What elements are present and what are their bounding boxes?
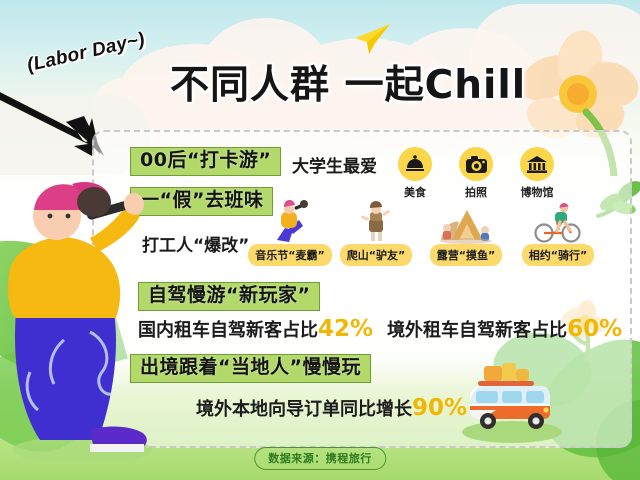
stat-text: 境外租车自驾新客占比 bbox=[387, 320, 567, 341]
persona-label: 音乐节“麦霸” bbox=[248, 244, 331, 266]
cyclist-figure-icon bbox=[533, 200, 583, 244]
stat-text: 境外本地向导订单同比增长 bbox=[196, 399, 412, 420]
persona-label: 露营“摸鱼” bbox=[430, 244, 502, 266]
data-source-label: 数据来源：携程旅行 bbox=[254, 447, 386, 470]
persona-hiker: 爬山“驴友” bbox=[330, 200, 422, 266]
stat-text: 国内租车自驾新客占比 bbox=[138, 320, 318, 341]
section-badge-selfdrive: 自驾慢游“新玩家” bbox=[138, 282, 320, 311]
stat-value: 42% bbox=[318, 316, 373, 342]
icon-item-photo: 拍照 bbox=[455, 147, 497, 200]
singer-illustration bbox=[0, 172, 160, 462]
paper-plane-icon bbox=[352, 22, 392, 56]
persona-camper: 露营“摸鱼” bbox=[420, 200, 512, 266]
section-note-students: 大学生最爱 bbox=[292, 152, 377, 177]
camper-figure-icon bbox=[437, 200, 495, 244]
persona-row: 音乐节“麦霸” 爬山“驴友” bbox=[244, 200, 624, 272]
hiker-figure-icon bbox=[358, 200, 394, 244]
singer-figure-icon bbox=[267, 200, 313, 244]
food-icon bbox=[398, 147, 432, 181]
persona-cyclist: 相约“骑行” bbox=[512, 200, 604, 266]
persona-label: 爬山“驴友” bbox=[340, 244, 412, 266]
persona-label: 相约“骑行” bbox=[522, 244, 594, 266]
icon-label: 美食 bbox=[394, 184, 436, 200]
camper-van-illustration bbox=[452, 360, 572, 444]
stat-row-outbound: 境外本地向导订单同比增长90% bbox=[196, 395, 467, 421]
section-badge-outbound: 出境跟着“当地人”慢慢玩 bbox=[130, 354, 371, 383]
stat-row-selfdrive: 国内租车自驾新客占比42%境外租车自驾新客占比60% bbox=[138, 316, 622, 342]
icon-label: 博物馆 bbox=[516, 184, 558, 200]
icon-label: 拍照 bbox=[455, 184, 497, 200]
museum-icon bbox=[520, 147, 554, 181]
camera-icon bbox=[459, 147, 493, 181]
icon-trio: 美食 拍照 bbox=[394, 147, 558, 200]
poster-canvas: (Labor Day~) 不同人群 一起Chill 00后“打卡游” 大学生最爱… bbox=[0, 0, 640, 480]
persona-singer: 音乐节“麦霸” bbox=[244, 200, 336, 266]
stat-value: 60% bbox=[567, 316, 622, 342]
page-title: 不同人群 一起Chill bbox=[170, 54, 526, 110]
icon-item-museum: 博物馆 bbox=[516, 147, 558, 200]
icon-item-food: 美食 bbox=[394, 147, 436, 200]
